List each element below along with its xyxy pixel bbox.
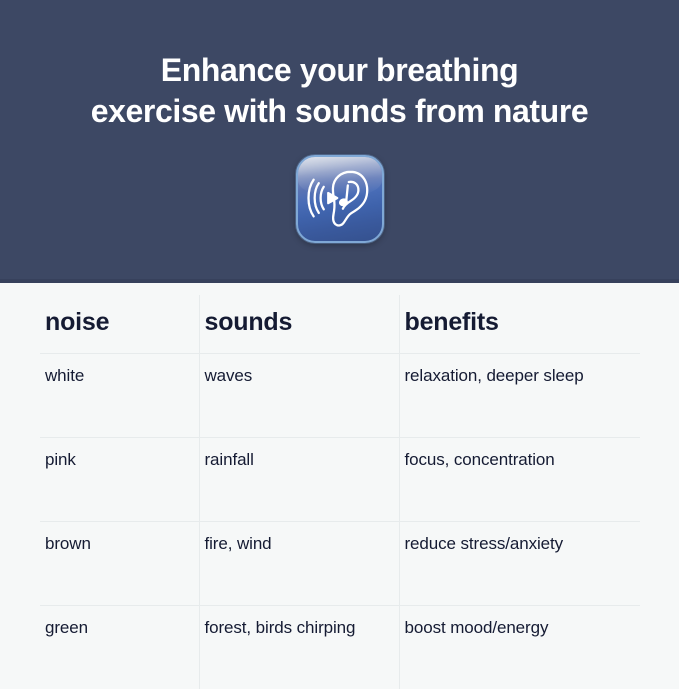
column-header-noise: noise <box>40 295 199 354</box>
column-header-benefits: benefits <box>399 295 640 354</box>
hero-banner: Enhance your breathing exercise with sou… <box>0 0 679 283</box>
table-row: pink rainfall focus, concentration <box>40 438 640 522</box>
ear-sound-waves-icon <box>296 155 384 243</box>
cell-sounds: waves <box>199 354 399 438</box>
table-body: white waves relaxation, deeper sleep pin… <box>40 354 640 689</box>
cell-noise: white <box>40 354 199 438</box>
page-title-line-1: Enhance your breathing <box>34 50 645 91</box>
cell-noise: green <box>40 606 199 689</box>
cell-benefits: boost mood/energy <box>399 606 640 689</box>
cell-sounds: forest, birds chirping <box>199 606 399 689</box>
page-title-line-2: exercise with sounds from nature <box>34 91 645 132</box>
table-row: brown fire, wind reduce stress/anxiety <box>40 522 640 606</box>
table-header-row: noise sounds benefits <box>40 295 640 354</box>
infographic-page: Enhance your breathing exercise with sou… <box>0 0 679 679</box>
table-header: noise sounds benefits <box>40 295 640 354</box>
noise-benefits-table-area: noise sounds benefits white waves relaxa… <box>0 283 679 679</box>
cell-sounds: rainfall <box>199 438 399 522</box>
page-title: Enhance your breathing exercise with sou… <box>0 50 679 132</box>
column-header-sounds: sounds <box>199 295 399 354</box>
cell-benefits: focus, concentration <box>399 438 640 522</box>
cell-benefits: relaxation, deeper sleep <box>399 354 640 438</box>
ear-sound-waves-glyph <box>298 157 382 241</box>
noise-benefits-table: noise sounds benefits white waves relaxa… <box>40 295 640 689</box>
cell-benefits: reduce stress/anxiety <box>399 522 640 606</box>
cell-sounds: fire, wind <box>199 522 399 606</box>
app-icon-container <box>296 155 384 243</box>
cell-noise: pink <box>40 438 199 522</box>
table-row: green forest, birds chirping boost mood/… <box>40 606 640 689</box>
table-row: white waves relaxation, deeper sleep <box>40 354 640 438</box>
cell-noise: brown <box>40 522 199 606</box>
